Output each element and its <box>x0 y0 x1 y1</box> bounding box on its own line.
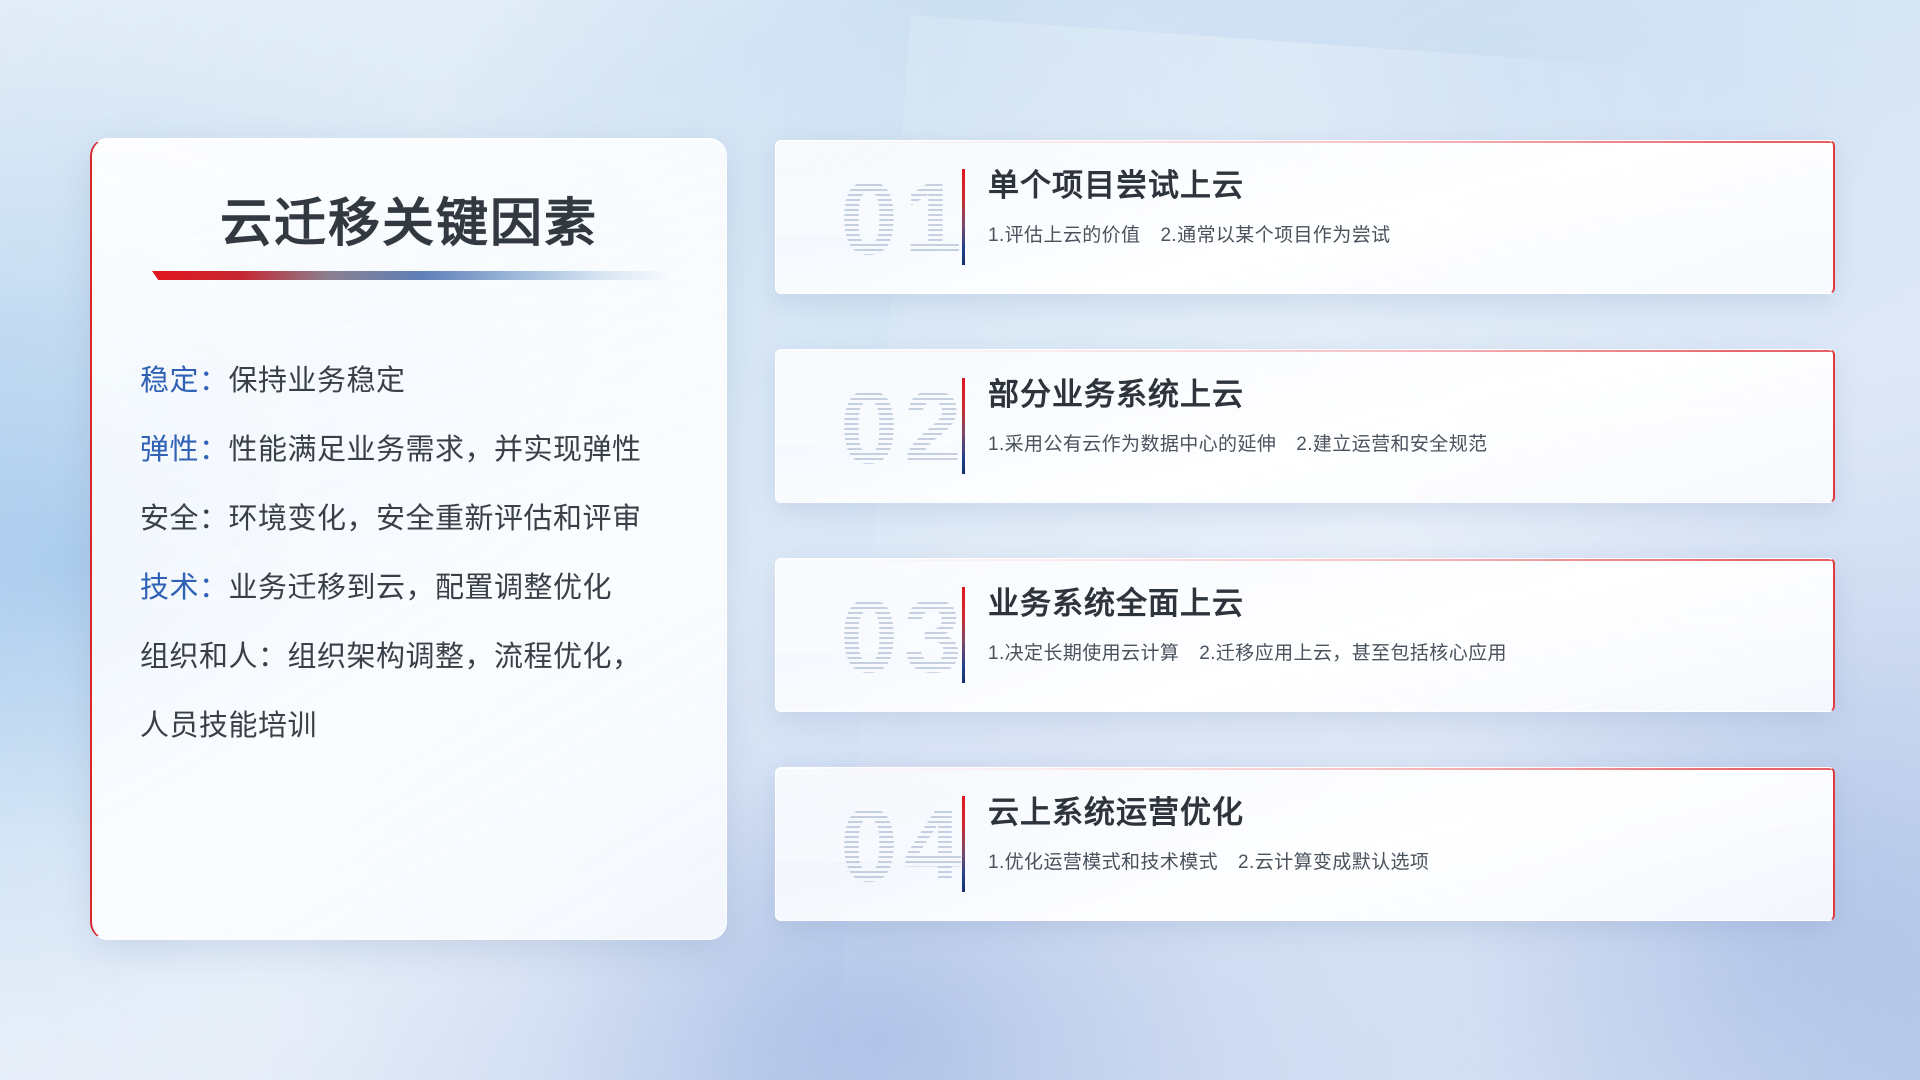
stage-accent-bar <box>962 796 965 892</box>
factor-text-stability: 保持业务稳定 <box>229 365 406 397</box>
card-top-accent-line <box>776 141 1833 143</box>
card-top-accent-line <box>776 350 1833 352</box>
stage-card-01[interactable]: 01 单个项目尝试上云 1.评估上云的价值2.通常以某个项目作为尝试 <box>775 140 1835 294</box>
factor-text-elasticity: 性能满足业务需求，并实现弹性 <box>229 434 642 466</box>
factor-label-technology: 技术： <box>140 572 229 604</box>
stage-accent-bar <box>962 378 965 474</box>
stage-title-03: 业务系统全面上云 <box>988 585 1809 622</box>
factor-text-technology: 业务迁移到云，配置调整优化 <box>229 572 613 604</box>
title-underline-gradient <box>152 271 672 280</box>
stage-title-04: 云上系统运营优化 <box>988 794 1809 831</box>
stage-number-04: 04 <box>804 776 1004 916</box>
stage-number-02: 02 <box>804 358 1004 498</box>
factor-list: 稳定：保持业务稳定 弹性：性能满足业务需求，并实现弹性 安全：环境变化，安全重新… <box>140 367 698 741</box>
page-title: 云迁移关键因素 <box>92 181 726 256</box>
stage-body-02: 部分业务系统上云 1.采用公有云作为数据中心的延伸2.建立运营和安全规范 <box>988 376 1809 456</box>
factor-label-security: 安全： <box>140 503 229 535</box>
factor-label-elasticity: 弹性： <box>140 434 229 466</box>
stage-desc-item-2: 2.建立运营和安全规范 <box>1296 434 1487 455</box>
stage-card-04[interactable]: 04 云上系统运营优化 1.优化运营模式和技术模式2.云计算变成默认选项 <box>775 767 1835 921</box>
stage-body-01: 单个项目尝试上云 1.评估上云的价值2.通常以某个项目作为尝试 <box>988 167 1809 247</box>
stage-desc-item-2: 2.迁移应用上云，甚至包括核心应用 <box>1199 643 1507 664</box>
stage-desc-item-1: 1.优化运营模式和技术模式 <box>988 852 1218 873</box>
stage-desc-item-1: 1.评估上云的价值 <box>988 225 1140 246</box>
card-top-accent-line <box>776 559 1833 561</box>
stage-number-01: 01 <box>804 149 1004 289</box>
stage-desc-item-2: 2.通常以某个项目作为尝试 <box>1160 225 1390 246</box>
stage-accent-bar <box>962 587 965 683</box>
stage-desc-04: 1.优化运营模式和技术模式2.云计算变成默认选项 <box>988 847 1809 874</box>
factor-text-organization: 组织架构调整，流程优化， <box>288 641 642 673</box>
factor-item-stability: 稳定：保持业务稳定 <box>140 367 698 396</box>
factor-text-security: 环境变化，安全重新评估和评审 <box>229 503 642 535</box>
stage-desc-item-1: 1.决定长期使用云计算 <box>988 643 1179 664</box>
factor-item-organization-continued: 人员技能培训 <box>140 712 698 741</box>
factor-item-organization: 组织和人：组织架构调整，流程优化， <box>140 643 698 672</box>
stage-title-02: 部分业务系统上云 <box>988 376 1809 413</box>
stage-desc-02: 1.采用公有云作为数据中心的延伸2.建立运营和安全规范 <box>988 429 1809 456</box>
stage-accent-bar <box>962 169 965 265</box>
factor-label-organization: 组织和人： <box>140 641 288 673</box>
factor-text-organization-continued: 人员技能培训 <box>140 710 317 742</box>
stage-card-02[interactable]: 02 部分业务系统上云 1.采用公有云作为数据中心的延伸2.建立运营和安全规范 <box>775 349 1835 503</box>
stage-card-list: 01 单个项目尝试上云 1.评估上云的价值2.通常以某个项目作为尝试 02 部分… <box>775 140 1835 921</box>
card-top-accent-line <box>776 768 1833 770</box>
factor-item-security: 安全：环境变化，安全重新评估和评审 <box>140 505 698 534</box>
slide-canvas: 云迁移关键因素 稳定：保持业务稳定 弹性：性能满足业务需求，并实现弹性 安全：环… <box>0 0 1920 1080</box>
stage-desc-item-2: 2.云计算变成默认选项 <box>1238 852 1429 873</box>
stage-desc-01: 1.评估上云的价值2.通常以某个项目作为尝试 <box>988 220 1809 247</box>
stage-body-03: 业务系统全面上云 1.决定长期使用云计算2.迁移应用上云，甚至包括核心应用 <box>988 585 1809 665</box>
factor-item-technology: 技术：业务迁移到云，配置调整优化 <box>140 574 698 603</box>
factor-item-elasticity: 弹性：性能满足业务需求，并实现弹性 <box>140 436 698 465</box>
stage-title-01: 单个项目尝试上云 <box>988 167 1809 204</box>
key-factors-panel: 云迁移关键因素 稳定：保持业务稳定 弹性：性能满足业务需求，并实现弹性 安全：环… <box>90 138 727 940</box>
factor-label-stability: 稳定： <box>140 365 229 397</box>
stage-desc-03: 1.决定长期使用云计算2.迁移应用上云，甚至包括核心应用 <box>988 638 1809 665</box>
stage-card-03[interactable]: 03 业务系统全面上云 1.决定长期使用云计算2.迁移应用上云，甚至包括核心应用 <box>775 558 1835 712</box>
stage-desc-item-1: 1.采用公有云作为数据中心的延伸 <box>988 434 1276 455</box>
stage-body-04: 云上系统运营优化 1.优化运营模式和技术模式2.云计算变成默认选项 <box>988 794 1809 874</box>
stage-number-03: 03 <box>804 567 1004 707</box>
